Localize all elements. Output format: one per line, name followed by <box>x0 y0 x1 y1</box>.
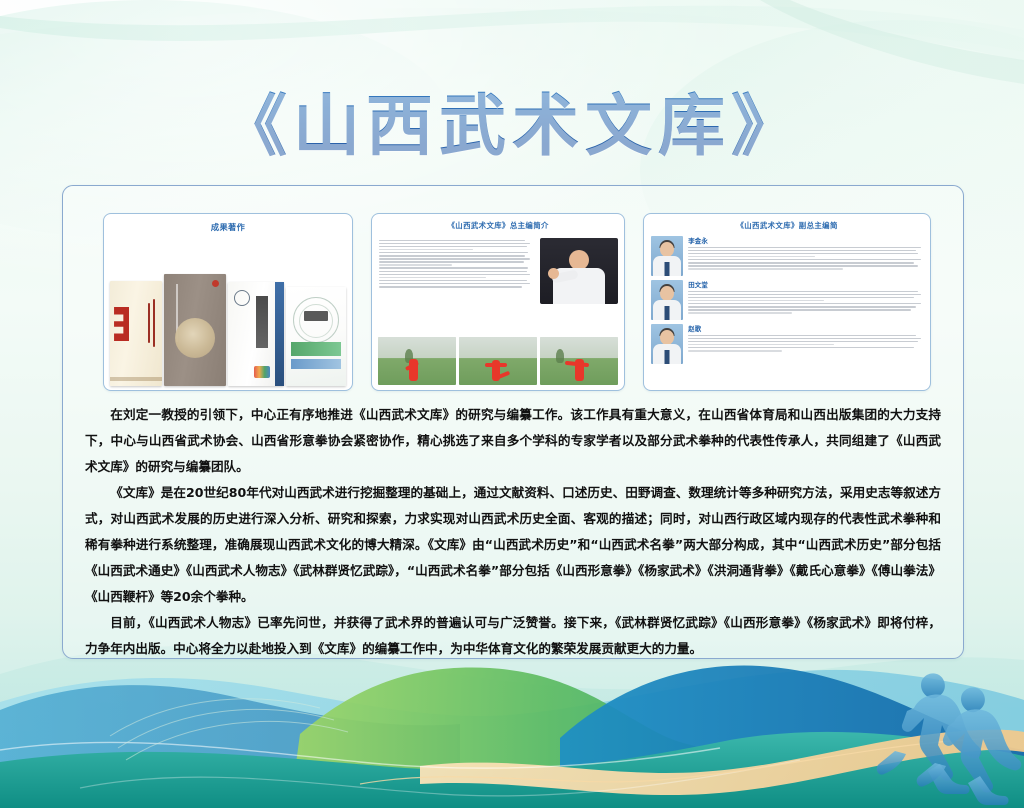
article-paragraph: 目前，《山西武术人物志》已率先问世，并获得了武术界的普遍认可与广泛赞誉。接下来，… <box>85 610 941 662</box>
avatar <box>651 280 683 320</box>
book-emblem-icon <box>212 280 219 287</box>
panel-row: 成果著作 <box>103 213 931 391</box>
deputy-editor-name: 赵歌 <box>688 324 923 333</box>
article-paragraph: 《文库》是在20世纪80年代对山西武术进行挖掘整理的基础上，通过文献资料、口述历… <box>85 480 941 610</box>
panel-achievements-title: 成果著作 <box>104 214 352 233</box>
content-frame: 成果著作 <box>62 185 964 659</box>
book-cover-group <box>110 240 346 386</box>
martial-arts-photo <box>459 337 537 385</box>
panel-chief-editor: 《山西武术文库》总主编简介 <box>371 213 625 391</box>
list-item: 赵歌 <box>651 324 923 364</box>
book-cover-xingyiquan <box>286 287 346 386</box>
book-badge-icon <box>234 290 250 306</box>
panel-deputy-editors: 《山西武术文库》副总主编简 李金永 <box>643 213 931 391</box>
book-cover-seal <box>110 281 162 386</box>
avatar <box>651 236 683 276</box>
deputy-editor-list: 李金永 田文堂 <box>651 236 923 386</box>
seal-glyph-icon <box>114 307 129 341</box>
list-item: 田文堂 <box>651 280 923 320</box>
panel-achievements: 成果著作 <box>103 213 353 391</box>
martial-arts-photo <box>540 337 618 385</box>
chief-editor-portrait <box>540 238 618 304</box>
panel-deputy-editors-title: 《山西武术文库》副总主编简 <box>644 214 930 231</box>
page-title: 《山西武术文库》 <box>220 72 804 169</box>
poster-stage: 《山西武术文库》 成果著作 <box>0 0 1024 808</box>
page-title-wrap: 《山西武术文库》 <box>0 72 1024 169</box>
chief-editor-bio-text <box>379 238 531 289</box>
list-item: 李金永 <box>651 236 923 276</box>
book-cover-shanxi-wushu-renwuzhi <box>164 274 226 386</box>
martial-arts-photo <box>378 337 456 385</box>
deputy-editor-name: 田文堂 <box>688 280 923 289</box>
avatar <box>651 324 683 364</box>
martial-arts-photo-strip <box>378 337 618 385</box>
book-cover-sanjin-wushu <box>228 282 284 386</box>
deputy-editor-name: 李金永 <box>688 236 923 245</box>
article-paragraph: 在刘定一教授的引领下，中心正有序地推进《山西武术文库》的研究与编纂工作。该工作具… <box>85 402 941 480</box>
panel-chief-editor-title: 《山西武术文库》总主编简介 <box>372 214 624 231</box>
footer-wave-decoration <box>0 638 1024 808</box>
article-body: 在刘定一教授的引领下，中心正有序地推进《山西武术文库》的研究与编纂工作。该工作具… <box>85 402 941 662</box>
